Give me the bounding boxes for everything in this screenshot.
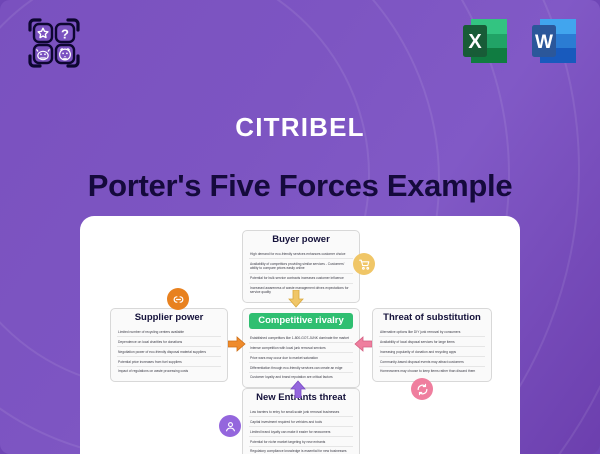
office-icons-group: X W [457, 12, 584, 70]
box-item: Capital investment required for vehicles… [249, 417, 353, 427]
box-item: Potential price increases from fuel supp… [117, 357, 221, 367]
svg-text:?: ? [61, 27, 69, 42]
box-item: Homeowners may choose to keep items rath… [379, 367, 485, 376]
box-item: Impact of regulations on waste processin… [117, 367, 221, 376]
box-item: Availability of local disposal services … [379, 337, 485, 347]
badge-buyer-cart-icon[interactable] [353, 253, 375, 275]
box-item: Intense competition with local junk remo… [249, 343, 353, 353]
box-item: Community-based disposal events may attr… [379, 357, 485, 367]
box-item: Increasing popularity of donation and re… [379, 347, 485, 357]
force-box-competitive-rivalry[interactable]: Competitive rivalry Established competit… [242, 308, 360, 388]
box-item: Limited brand loyalty can make it easier… [249, 427, 353, 437]
box-item: Availability of competitors providing si… [249, 259, 353, 273]
box-item: Established competitors like 1-800-GOT-J… [249, 333, 353, 343]
box-item: Potential for bulk service contracts inc… [249, 274, 353, 284]
box-title: Threat of substitution [379, 313, 485, 323]
box-item: Differentiation through eco-friendly ser… [249, 363, 353, 373]
box-item: Dependence on local charities for donati… [117, 337, 221, 347]
word-icon[interactable]: W [526, 12, 584, 70]
badge-supplier-link-icon[interactable] [167, 288, 189, 310]
box-item: Potential for niche market targeting by … [249, 437, 353, 447]
scan-frame-pets-icon: ? [26, 16, 82, 70]
box-item: Regulatory compliance knowledge is essen… [249, 447, 353, 454]
box-title: Competitive rivalry [249, 313, 353, 329]
excel-icon[interactable]: X [457, 12, 515, 70]
box-item: Low barriers to entry for small-scale ju… [249, 407, 353, 417]
box-item: Alternative options like DIY junk remova… [379, 327, 485, 337]
force-box-supplier-power[interactable]: Supplier power Limited number of recycli… [110, 308, 228, 382]
box-item: High demand for eco-friendly services en… [249, 249, 353, 259]
box-item: Negotiation power of eco-friendly dispos… [117, 347, 221, 357]
diagram-canvas: Buyer power High demand for eco-friendly… [80, 216, 520, 454]
box-title: Buyer power [249, 235, 353, 245]
svg-text:X: X [468, 31, 482, 53]
box-item: Limited number of recycling centers avai… [117, 327, 221, 337]
page-title: Porter's Five Forces Example [0, 168, 600, 204]
box-item: Price wars may occur due to market satur… [249, 353, 353, 363]
badge-entrants-user-icon[interactable] [219, 415, 241, 437]
box-title: Supplier power [117, 313, 221, 323]
force-box-threat-of-substitution[interactable]: Threat of substitution Alternative optio… [372, 308, 492, 382]
svg-text:W: W [535, 32, 553, 53]
badge-substitution-recycle-icon[interactable] [411, 378, 433, 400]
brand-name: CITRIBEL [0, 112, 600, 143]
